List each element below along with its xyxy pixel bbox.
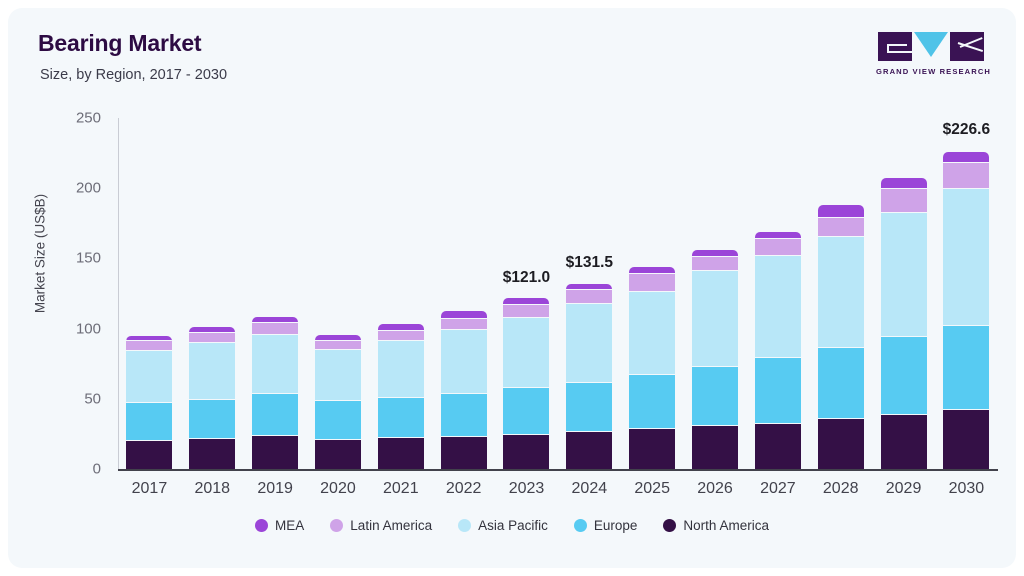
bar-stack[interactable]	[943, 152, 989, 469]
bar-column[interactable]	[244, 118, 306, 469]
bar-stack[interactable]	[818, 205, 864, 469]
bar-value-label: $121.0	[503, 269, 550, 287]
bar-segment-latin-america[interactable]	[315, 341, 361, 350]
bar-segment-latin-america[interactable]	[566, 290, 612, 304]
x-tick-label: 2029	[873, 480, 935, 498]
legend-label: Europe	[594, 518, 638, 533]
x-tick-label: 2023	[495, 480, 557, 498]
bar-segment-north-america[interactable]	[566, 432, 612, 469]
x-tick-label: 2030	[935, 480, 997, 498]
bar-value-label: $131.5	[566, 254, 613, 272]
bar-segment-asia-pacific[interactable]	[692, 271, 738, 367]
bar-segment-mea[interactable]	[441, 311, 487, 319]
legend-item-europe[interactable]: Europe	[574, 518, 638, 533]
bar-segment-asia-pacific[interactable]	[378, 341, 424, 398]
legend-label: MEA	[275, 518, 304, 533]
bar-segment-mea[interactable]	[503, 298, 549, 305]
bar-stack[interactable]	[503, 298, 549, 469]
bar-stack[interactable]	[566, 284, 612, 469]
x-tick-label: 2022	[433, 480, 495, 498]
y-tick-label: 50	[55, 390, 101, 407]
legend-item-latin-america[interactable]: Latin America	[330, 518, 432, 533]
legend-item-north-america[interactable]: North America	[663, 518, 769, 533]
bar-segment-asia-pacific[interactable]	[755, 256, 801, 358]
bar-segment-latin-america[interactable]	[692, 257, 738, 271]
bar-group: $121.0$131.5$226.6	[118, 118, 998, 469]
bar-segment-north-america[interactable]	[692, 426, 738, 469]
bar-column[interactable]: $226.6	[935, 118, 997, 469]
bar-segment-europe[interactable]	[692, 367, 738, 426]
x-tick-label: 2027	[747, 480, 809, 498]
bar-segment-latin-america[interactable]	[441, 319, 487, 330]
bar-segment-asia-pacific[interactable]	[126, 351, 172, 404]
bar-segment-asia-pacific[interactable]	[189, 343, 235, 399]
bar-segment-europe[interactable]	[441, 394, 487, 437]
chart-card: Bearing Market Size, by Region, 2017 - 2…	[8, 8, 1016, 568]
x-tick-label: 2018	[181, 480, 243, 498]
bar-segment-latin-america[interactable]	[881, 189, 927, 212]
bar-column[interactable]	[118, 118, 180, 469]
bar-segment-north-america[interactable]	[881, 415, 927, 469]
bar-segment-mea[interactable]	[943, 152, 989, 163]
legend-label: Latin America	[350, 518, 432, 533]
bar-segment-mea[interactable]	[755, 232, 801, 239]
legend-label: Asia Pacific	[478, 518, 548, 533]
bar-segment-mea[interactable]	[692, 250, 738, 257]
bar-stack[interactable]	[441, 311, 487, 469]
bar-segment-mea[interactable]	[629, 267, 675, 274]
bar-segment-asia-pacific[interactable]	[629, 292, 675, 374]
bar-segment-asia-pacific[interactable]	[566, 304, 612, 383]
x-tick-label: 2017	[118, 480, 180, 498]
legend-color-swatch-icon	[255, 519, 268, 532]
bar-segment-asia-pacific[interactable]	[503, 318, 549, 389]
bar-segment-asia-pacific[interactable]	[881, 213, 927, 337]
bar-stack[interactable]	[315, 335, 361, 469]
chart-page: Bearing Market Size, by Region, 2017 - 2…	[0, 0, 1024, 576]
legend-color-swatch-icon	[330, 519, 343, 532]
bar-segment-latin-america[interactable]	[503, 305, 549, 318]
x-tick-label: 2019	[244, 480, 306, 498]
legend-color-swatch-icon	[574, 519, 587, 532]
bar-stack[interactable]	[189, 327, 235, 469]
bar-segment-north-america[interactable]	[818, 419, 864, 469]
bar-segment-mea[interactable]	[881, 178, 927, 189]
legend: MEALatin AmericaAsia PacificEuropeNorth …	[8, 518, 1016, 533]
bar-stack[interactable]	[881, 178, 927, 469]
bar-segment-north-america[interactable]	[252, 436, 298, 469]
bar-segment-north-america[interactable]	[315, 440, 361, 469]
bar-column[interactable]: $121.0	[495, 118, 557, 469]
bar-segment-asia-pacific[interactable]	[818, 237, 864, 348]
x-tick-label: 2026	[684, 480, 746, 498]
bar-segment-mea[interactable]	[818, 205, 864, 218]
bar-segment-north-america[interactable]	[755, 424, 801, 469]
bar-segment-europe[interactable]	[818, 348, 864, 419]
bar-column[interactable]	[873, 118, 935, 469]
bar-column[interactable]	[181, 118, 243, 469]
bar-segment-europe[interactable]	[629, 375, 675, 429]
bar-segment-north-america[interactable]	[126, 441, 172, 469]
bar-segment-europe[interactable]	[881, 337, 927, 415]
bar-segment-asia-pacific[interactable]	[252, 335, 298, 394]
bar-stack[interactable]	[378, 324, 424, 469]
bar-stack[interactable]	[629, 267, 675, 469]
bar-segment-north-america[interactable]	[441, 437, 487, 469]
bar-segment-latin-america[interactable]	[818, 218, 864, 237]
y-tick-label: 0	[55, 461, 101, 478]
bar-segment-latin-america[interactable]	[755, 239, 801, 256]
bar-segment-europe[interactable]	[189, 400, 235, 440]
bar-segment-north-america[interactable]	[189, 439, 235, 469]
bar-segment-asia-pacific[interactable]	[315, 350, 361, 402]
x-tick-label: 2025	[621, 480, 683, 498]
legend-label: North America	[683, 518, 769, 533]
x-tick-label: 2028	[810, 480, 872, 498]
bar-column[interactable]	[747, 118, 809, 469]
x-tick-label: 2021	[370, 480, 432, 498]
bar-stack[interactable]	[692, 250, 738, 469]
bar-stack[interactable]	[126, 336, 172, 470]
bar-column[interactable]: $131.5	[558, 118, 620, 469]
bar-segment-europe[interactable]	[315, 401, 361, 440]
bar-segment-europe[interactable]	[943, 326, 989, 410]
x-axis-labels: 2017201820192020202120222023202420252026…	[118, 480, 998, 498]
y-tick-label: 200	[55, 180, 101, 197]
bar-column[interactable]	[684, 118, 746, 469]
y-tick-label: 250	[55, 110, 101, 127]
x-tick-label: 2024	[558, 480, 620, 498]
x-axis-line	[118, 469, 998, 471]
y-axis-ticks: 050100150200250	[55, 8, 101, 568]
bar-segment-europe[interactable]	[252, 394, 298, 435]
legend-color-swatch-icon	[663, 519, 676, 532]
bar-column[interactable]	[370, 118, 432, 469]
bar-segment-europe[interactable]	[126, 403, 172, 440]
plot-area: Market Size (US$B) 050100150200250 $121.…	[8, 8, 1016, 568]
bar-segment-north-america[interactable]	[943, 410, 989, 469]
bar-segment-north-america[interactable]	[629, 429, 675, 469]
bar-column[interactable]	[307, 118, 369, 469]
bar-column[interactable]	[433, 118, 495, 469]
bar-column[interactable]	[810, 118, 872, 469]
bar-segment-latin-america[interactable]	[252, 323, 298, 335]
bar-value-label: $226.6	[943, 121, 990, 139]
bar-stack[interactable]	[252, 317, 298, 469]
bar-segment-asia-pacific[interactable]	[441, 330, 487, 394]
legend-item-mea[interactable]: MEA	[255, 518, 304, 533]
y-tick-label: 100	[55, 320, 101, 337]
bar-stack[interactable]	[755, 232, 801, 469]
y-axis-title: Market Size (US$B)	[33, 144, 48, 364]
bar-segment-europe[interactable]	[378, 398, 424, 439]
legend-item-asia-pacific[interactable]: Asia Pacific	[458, 518, 548, 533]
bar-segment-latin-america[interactable]	[378, 331, 424, 341]
bar-segment-latin-america[interactable]	[126, 341, 172, 351]
legend-color-swatch-icon	[458, 519, 471, 532]
bar-segment-asia-pacific[interactable]	[943, 189, 989, 326]
y-tick-label: 150	[55, 250, 101, 267]
bar-segment-europe[interactable]	[755, 358, 801, 424]
bar-segment-latin-america[interactable]	[943, 163, 989, 189]
bar-column[interactable]	[621, 118, 683, 469]
x-tick-label: 2020	[307, 480, 369, 498]
bar-segment-latin-america[interactable]	[189, 333, 235, 344]
bar-segment-north-america[interactable]	[503, 435, 549, 469]
bar-segment-north-america[interactable]	[378, 438, 424, 469]
bar-segment-mea[interactable]	[378, 324, 424, 332]
bar-segment-europe[interactable]	[566, 383, 612, 433]
bar-segment-europe[interactable]	[503, 388, 549, 434]
bar-segment-latin-america[interactable]	[629, 274, 675, 292]
